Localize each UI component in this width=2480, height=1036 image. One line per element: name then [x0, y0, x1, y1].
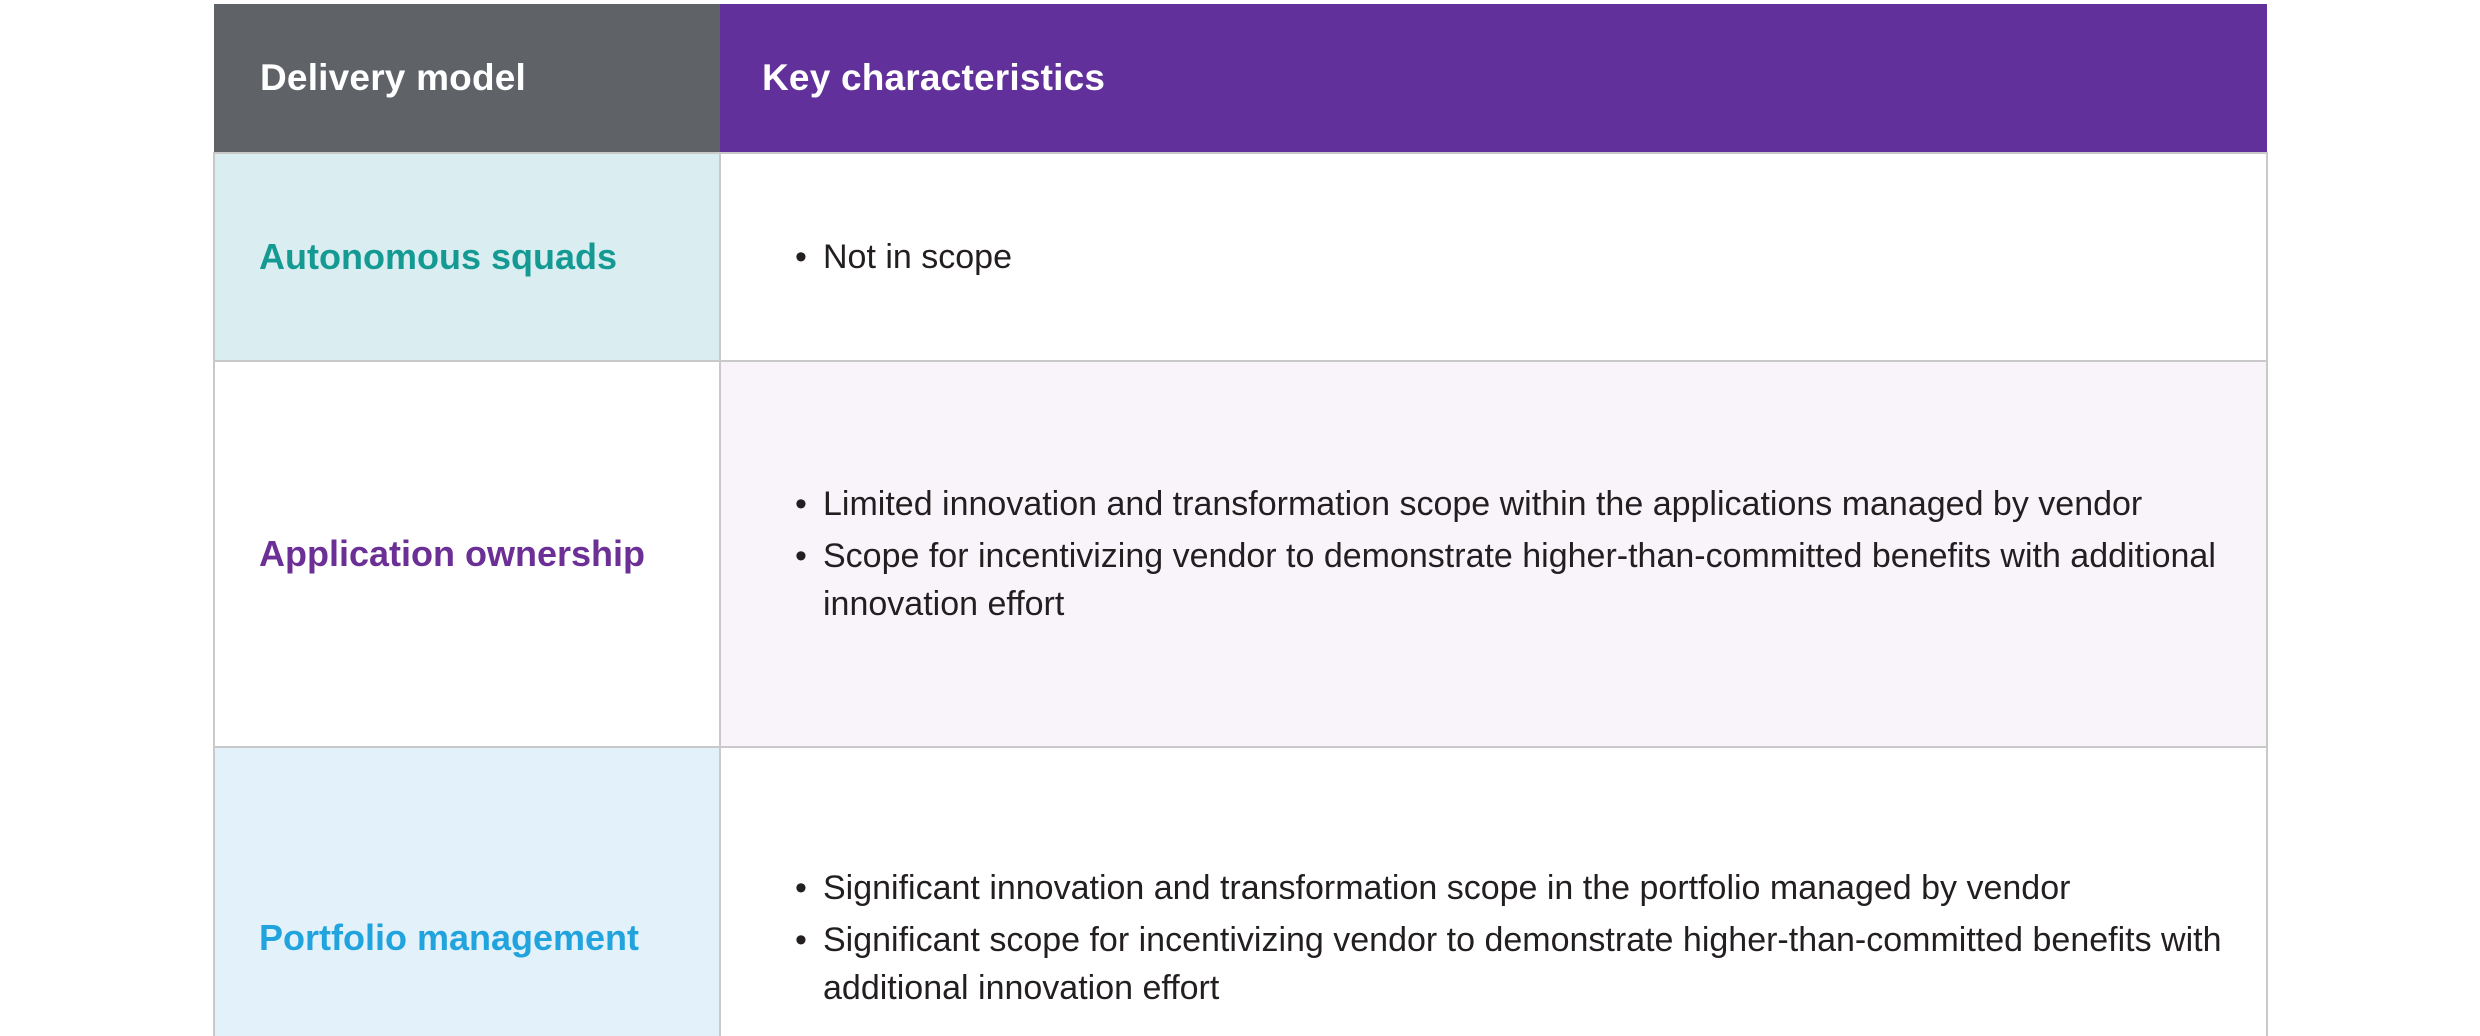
- bullet-icon: •: [795, 480, 807, 528]
- bullet-icon: •: [795, 532, 807, 580]
- table-body: Autonomous squads • Not in scope Applica…: [214, 153, 2267, 1036]
- list-item-text: Scope for incentivizing vendor to demons…: [823, 537, 2216, 623]
- delivery-model-label-application-ownership: Application ownership: [214, 361, 720, 747]
- delivery-model-table: Delivery model Key characteristics Auton…: [213, 4, 2268, 1036]
- bullet-icon: •: [795, 233, 807, 281]
- bullet-list: • Limited innovation and transformation …: [793, 480, 2226, 629]
- bullet-list: • Not in scope: [793, 233, 2226, 281]
- list-item-text: Not in scope: [823, 238, 1012, 276]
- bullet-icon: •: [795, 864, 807, 912]
- bullet-icon: •: [795, 916, 807, 964]
- bullet-list: • Significant innovation and transformat…: [793, 864, 2226, 1013]
- table-row: Application ownership • Limited innovati…: [214, 361, 2267, 747]
- key-characteristics-cell-portfolio-management: • Significant innovation and transformat…: [720, 747, 2267, 1036]
- list-item: • Not in scope: [793, 233, 2226, 281]
- list-item: • Scope for incentivizing vendor to demo…: [793, 532, 2226, 629]
- table-row: Portfolio management • Significant innov…: [214, 747, 2267, 1036]
- delivery-model-table-container: Delivery model Key characteristics Auton…: [213, 4, 2268, 1022]
- delivery-model-label-autonomous-squads: Autonomous squads: [214, 153, 720, 361]
- list-item: • Limited innovation and transformation …: [793, 480, 2226, 528]
- header-row: Delivery model Key characteristics: [214, 4, 2267, 153]
- key-characteristics-cell-application-ownership: • Limited innovation and transformation …: [720, 361, 2267, 747]
- list-item-text: Limited innovation and transformation sc…: [823, 485, 2142, 523]
- column-header-delivery-model: Delivery model: [214, 4, 720, 153]
- list-item-text: Significant innovation and transformatio…: [823, 869, 2070, 907]
- key-characteristics-cell-autonomous-squads: • Not in scope: [720, 153, 2267, 361]
- column-header-key-characteristics: Key characteristics: [720, 4, 2267, 153]
- list-item-text: Significant scope for incentivizing vend…: [823, 921, 2222, 1007]
- table-header: Delivery model Key characteristics: [214, 4, 2267, 153]
- table-row: Autonomous squads • Not in scope: [214, 153, 2267, 361]
- list-item: • Significant scope for incentivizing ve…: [793, 916, 2226, 1013]
- slide-canvas: Delivery model Key characteristics Auton…: [0, 0, 2480, 1036]
- list-item: • Significant innovation and transformat…: [793, 864, 2226, 912]
- delivery-model-label-portfolio-management: Portfolio management: [214, 747, 720, 1036]
